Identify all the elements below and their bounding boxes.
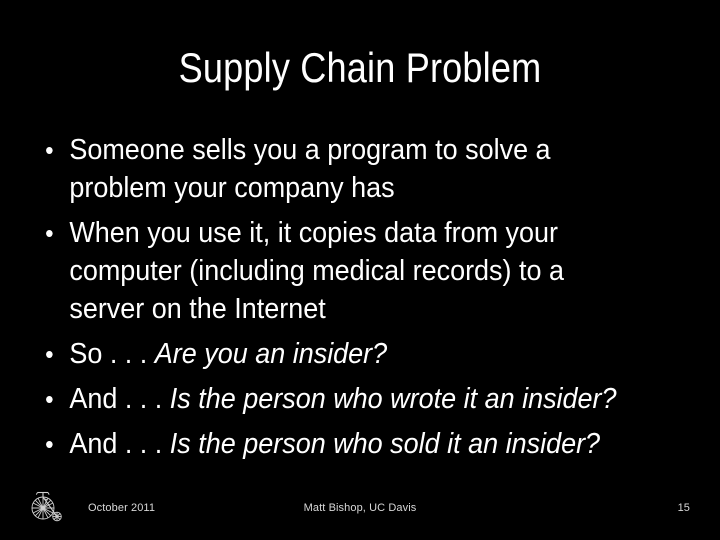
- bullet-dot-icon: •: [45, 214, 60, 252]
- list-item: • So . . . Are you an insider?: [34, 335, 640, 373]
- list-item-italic: Is the person who wrote it an insider?: [170, 383, 617, 415]
- list-item-plain: So . . .: [69, 338, 154, 370]
- list-item-text: And . . . Is the person who wrote it an …: [69, 380, 640, 418]
- list-item: • And . . . Is the person who sold it an…: [34, 425, 640, 463]
- bullet-dot-icon: •: [45, 335, 60, 373]
- list-item: • Someone sells you a program to solve a…: [34, 131, 640, 207]
- list-item-plain: When you use it, it copies data from you…: [69, 217, 564, 325]
- list-item-text: So . . . Are you an insider?: [69, 335, 640, 373]
- list-item-plain: And . . .: [69, 383, 169, 415]
- bullet-list: • Someone sells you a program to solve a…: [34, 131, 686, 463]
- slide-footer: October 2011 Matt Bishop, UC Davis 15: [0, 486, 720, 540]
- footer-author: Matt Bishop, UC Davis: [0, 502, 720, 514]
- bullet-dot-icon: •: [45, 425, 60, 463]
- list-item: • When you use it, it copies data from y…: [34, 214, 640, 328]
- presentation-slide: Supply Chain Problem • Someone sells you…: [0, 0, 720, 540]
- page-title: Supply Chain Problem: [50, 44, 669, 92]
- bullet-dot-icon: •: [45, 380, 60, 418]
- list-item-text: And . . . Is the person who sold it an i…: [69, 425, 640, 463]
- list-item-italic: Is the person who sold it an insider?: [170, 428, 600, 460]
- list-item-text: Someone sells you a program to solve a p…: [69, 131, 640, 207]
- list-item-text: When you use it, it copies data from you…: [69, 214, 640, 328]
- footer-page-number: 15: [678, 502, 690, 514]
- bullet-dot-icon: •: [45, 131, 60, 169]
- list-item-plain: Someone sells you a program to solve a p…: [69, 134, 550, 204]
- list-item-plain: And . . .: [69, 428, 169, 460]
- list-item: • And . . . Is the person who wrote it a…: [34, 380, 640, 418]
- list-item-italic: Are you an insider?: [155, 338, 387, 370]
